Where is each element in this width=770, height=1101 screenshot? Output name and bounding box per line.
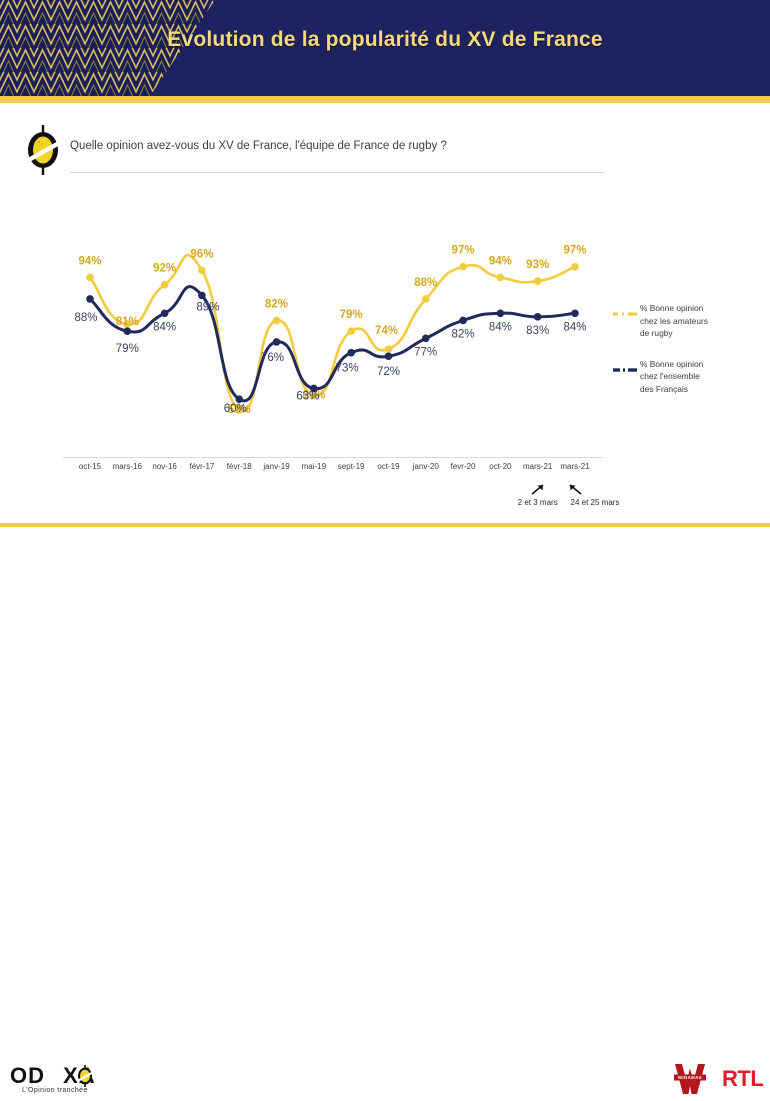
legend-label-line1: % Bonne opinion bbox=[640, 359, 703, 369]
x-axis-label: mai-19 bbox=[302, 462, 326, 471]
data-point bbox=[235, 395, 243, 403]
data-point bbox=[385, 345, 393, 353]
data-label: 72% bbox=[377, 366, 400, 378]
annotation-label: 2 et 3 mars bbox=[518, 498, 558, 507]
data-point bbox=[497, 274, 505, 282]
x-axis-label: oct-15 bbox=[79, 462, 101, 471]
data-label: 94% bbox=[78, 255, 101, 267]
data-label: 97% bbox=[563, 245, 586, 257]
legend-label-line2: chez l'ensemble bbox=[640, 371, 700, 381]
x-axis-label: févr-18 bbox=[227, 462, 252, 471]
data-point bbox=[571, 309, 579, 317]
legend-label-line1: % Bonne opinion bbox=[640, 303, 703, 313]
data-point bbox=[347, 349, 355, 357]
data-label: 76% bbox=[261, 352, 284, 364]
data-label: 82% bbox=[452, 328, 475, 340]
data-point bbox=[198, 267, 206, 275]
data-point bbox=[86, 295, 94, 303]
legend-label-line3: de rugby bbox=[640, 328, 673, 338]
data-point bbox=[571, 263, 579, 271]
x-axis-labels: oct-15mars-16nov-16févr-17févr-18janv-19… bbox=[63, 462, 608, 478]
data-point bbox=[161, 281, 169, 289]
x-axis-label: févr-17 bbox=[189, 462, 214, 471]
arrow-up-right-icon bbox=[530, 482, 546, 496]
x-axis-label: sept-19 bbox=[338, 462, 365, 471]
data-point bbox=[459, 317, 467, 325]
data-label: 79% bbox=[340, 309, 363, 321]
data-point bbox=[497, 309, 505, 317]
arrow-up-left-icon bbox=[567, 482, 583, 496]
x-axis-label: janv-20 bbox=[413, 462, 439, 471]
legend-item-ensemble[interactable]: % Bonne opinion chez l'ensemble des Fran… bbox=[612, 358, 762, 396]
odoxa-o-logo-icon bbox=[76, 1065, 94, 1087]
data-label: 84% bbox=[153, 321, 176, 333]
data-label: 84% bbox=[563, 321, 586, 333]
data-point bbox=[459, 263, 467, 271]
data-point bbox=[534, 277, 542, 285]
slide: Evolution de la popularité du XV de Fran… bbox=[0, 0, 770, 576]
data-point bbox=[198, 292, 206, 300]
data-label: 88% bbox=[414, 277, 437, 289]
chart-legend: % Bonne opinion chez les amateurs de rug… bbox=[612, 302, 762, 413]
x-axis-label: fevr-20 bbox=[451, 462, 476, 471]
x-axis-label: janv-19 bbox=[263, 462, 289, 471]
footer: ODOXA L'Opinion tranchée WINAMAX RTL bbox=[0, 527, 770, 576]
x-axis-label: oct-19 bbox=[377, 462, 399, 471]
rtl-logo-icon: RTL bbox=[722, 1067, 763, 1091]
odoxa-tagline: L'Opinion tranchée bbox=[22, 1087, 88, 1094]
data-label: 79% bbox=[116, 343, 139, 355]
x-axis-label: mars-16 bbox=[113, 462, 142, 471]
data-point bbox=[534, 313, 542, 321]
data-point bbox=[347, 327, 355, 335]
winamax-w-icon: WINAMAX bbox=[672, 1062, 708, 1096]
data-point bbox=[161, 309, 169, 317]
x-axis-label: nov-16 bbox=[152, 462, 176, 471]
legend-item-amateurs[interactable]: % Bonne opinion chez les amateurs de rug… bbox=[612, 302, 762, 340]
data-point bbox=[422, 295, 430, 303]
data-point bbox=[273, 317, 281, 325]
legend-label-line3: des Français bbox=[640, 384, 688, 394]
data-label: 88% bbox=[74, 312, 97, 324]
dashed-line-navy-icon bbox=[612, 361, 638, 369]
data-point bbox=[422, 335, 430, 343]
data-label: 84% bbox=[489, 321, 512, 333]
x-axis-label: mars-21 bbox=[560, 462, 589, 471]
data-label: 83% bbox=[526, 325, 549, 337]
data-point bbox=[273, 338, 281, 346]
data-label: 96% bbox=[190, 248, 213, 260]
data-point bbox=[124, 327, 132, 335]
annotation-label: 24 et 25 mars bbox=[571, 498, 620, 507]
data-label: 73% bbox=[336, 363, 359, 375]
data-label: 94% bbox=[489, 255, 512, 267]
data-label: 81% bbox=[116, 316, 139, 328]
data-label: 63% bbox=[296, 390, 319, 402]
data-label: 93% bbox=[526, 259, 549, 271]
data-label: 74% bbox=[375, 325, 398, 337]
data-label: 89% bbox=[196, 301, 219, 313]
series-line-1 bbox=[90, 287, 575, 401]
svg-text:WINAMAX: WINAMAX bbox=[678, 1075, 702, 1080]
data-label: 82% bbox=[265, 298, 288, 310]
data-label: 92% bbox=[153, 263, 176, 275]
data-point bbox=[86, 274, 94, 282]
data-label: 60% bbox=[224, 403, 247, 415]
chart-svg: 94%81%92%96%57%82%61%79%74%88%97%94%93%9… bbox=[0, 0, 770, 576]
data-label: 97% bbox=[452, 245, 475, 257]
data-label: 77% bbox=[414, 346, 437, 358]
data-point bbox=[385, 352, 393, 360]
odoxa-wordmark-prefix: OD bbox=[10, 1063, 45, 1088]
x-axis-label: mars-21 bbox=[523, 462, 552, 471]
x-axis-label: oct-20 bbox=[489, 462, 511, 471]
legend-label-line2: chez les amateurs bbox=[640, 316, 708, 326]
x-axis-line bbox=[63, 457, 603, 458]
dashed-line-yellow-icon bbox=[612, 305, 638, 313]
